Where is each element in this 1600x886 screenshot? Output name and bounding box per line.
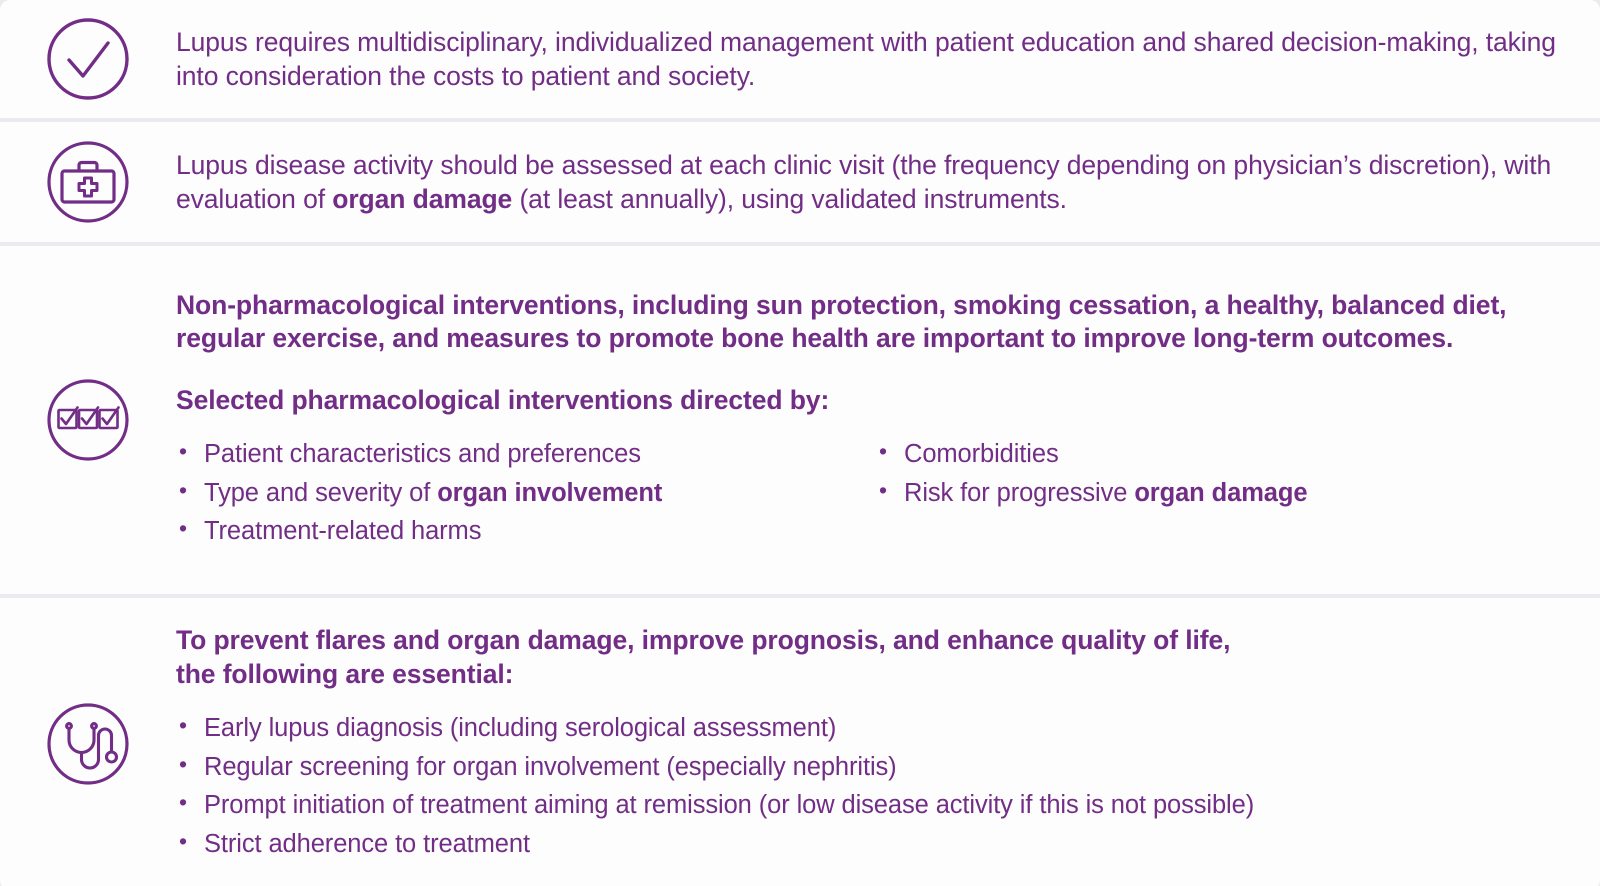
row-1-content: Lupus requires multidisciplinary, indivi… <box>176 25 1600 94</box>
panel-row-3: Non-pharmacological interventions, inclu… <box>0 246 1600 594</box>
row-3-bullets-left-column: Patient characteristics and preferences … <box>176 417 876 551</box>
bullet-text: Patient characteristics and preferences <box>204 440 641 468</box>
list-item: Treatment-related harms <box>176 512 876 551</box>
list-item: Comorbidities <box>876 435 1560 474</box>
row-1-paragraph: Lupus requires multidisciplinary, indivi… <box>176 25 1560 94</box>
check-circle-icon <box>0 13 176 105</box>
row-3-bullets-right-column: Comorbidities Risk for progressive organ… <box>876 417 1560 551</box>
panel-row-2: Lupus disease activity should be assesse… <box>0 122 1600 242</box>
stethoscope-icon <box>0 698 176 790</box>
row-2-text-after: (at least annually), using validated ins… <box>512 184 1067 214</box>
row-3-bullet-columns: Patient characteristics and preferences … <box>176 417 1560 551</box>
bullet-bold: organ damage <box>1134 479 1307 507</box>
bullet-text: Treatment-related harms <box>204 517 481 545</box>
row-3-content: Non-pharmacological interventions, inclu… <box>176 289 1600 551</box>
bullet-bold: organ involvement <box>437 479 662 507</box>
row-2-content: Lupus disease activity should be assesse… <box>176 148 1600 217</box>
row-4-bullet-list: Early lupus diagnosis (including serolog… <box>176 709 1560 864</box>
row-3-heading: Non-pharmacological interventions, inclu… <box>176 289 1560 356</box>
row-2-bold-term: organ damage <box>332 184 512 214</box>
bullet-list: Comorbidities Risk for progressive organ… <box>876 435 1560 513</box>
bullet-text: Comorbidities <box>904 440 1059 468</box>
infographic-board: Lupus requires multidisciplinary, indivi… <box>0 0 1600 886</box>
bullet-text: Type and severity of <box>204 479 437 507</box>
list-item: Risk for progressive organ damage <box>876 474 1560 513</box>
panel-row-4: To prevent flares and organ damage, impr… <box>0 598 1600 886</box>
list-item: Regular screening for organ involvement … <box>176 748 1560 787</box>
bullet-list: Patient characteristics and preferences … <box>176 435 876 551</box>
panel-row-1: Lupus requires multidisciplinary, indivi… <box>0 0 1600 118</box>
row-4-heading-line-2: the following are essential: <box>176 659 513 689</box>
list-item: Strict adherence to treatment <box>176 825 1560 864</box>
row-2-paragraph: Lupus disease activity should be assesse… <box>176 148 1560 217</box>
list-item: Type and severity of organ involvement <box>176 474 876 513</box>
checklist-icon <box>0 374 176 466</box>
list-item: Prompt initiation of treatment aiming at… <box>176 786 1560 825</box>
medical-bag-icon <box>0 136 176 228</box>
row-4-heading: To prevent flares and organ damage, impr… <box>176 624 1560 691</box>
list-item: Patient characteristics and preferences <box>176 435 876 474</box>
bullet-text: Risk for progressive <box>904 479 1134 507</box>
row-3-subheading: Selected pharmacological interventions d… <box>176 384 1560 417</box>
list-item: Early lupus diagnosis (including serolog… <box>176 709 1560 748</box>
row-4-heading-line-1: To prevent flares and organ damage, impr… <box>176 625 1230 655</box>
row-4-content: To prevent flares and organ damage, impr… <box>176 624 1600 864</box>
